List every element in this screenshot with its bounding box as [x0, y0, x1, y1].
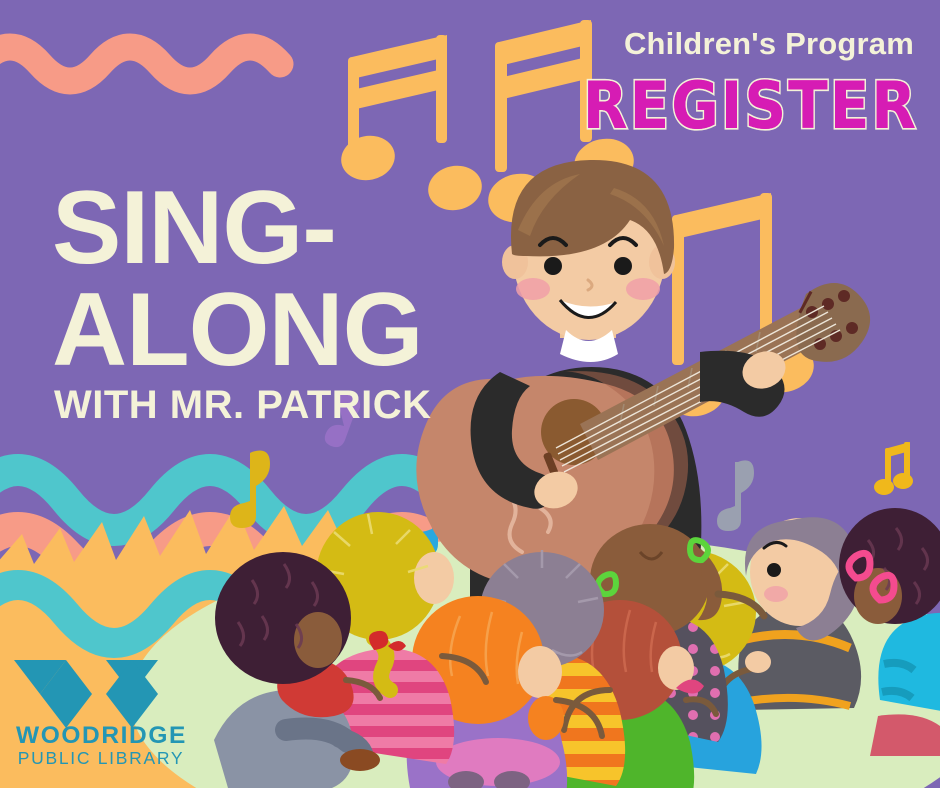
kicker-text: Children's Program [624, 28, 914, 59]
subtitle: WITH MR. PATRICK [54, 385, 432, 425]
logo-name: WOODRIDGE [16, 724, 186, 749]
poster-canvas: Children's Program REGISTER REGISTER SIN… [0, 0, 940, 788]
page-title: SING- ALONG [52, 178, 423, 382]
register-cta[interactable]: REGISTER [583, 73, 918, 138]
library-logo: WOODRIDGE PUBLIC LIBRARY [0, 618, 196, 788]
logo-subtitle: PUBLIC LIBRARY [16, 750, 186, 768]
